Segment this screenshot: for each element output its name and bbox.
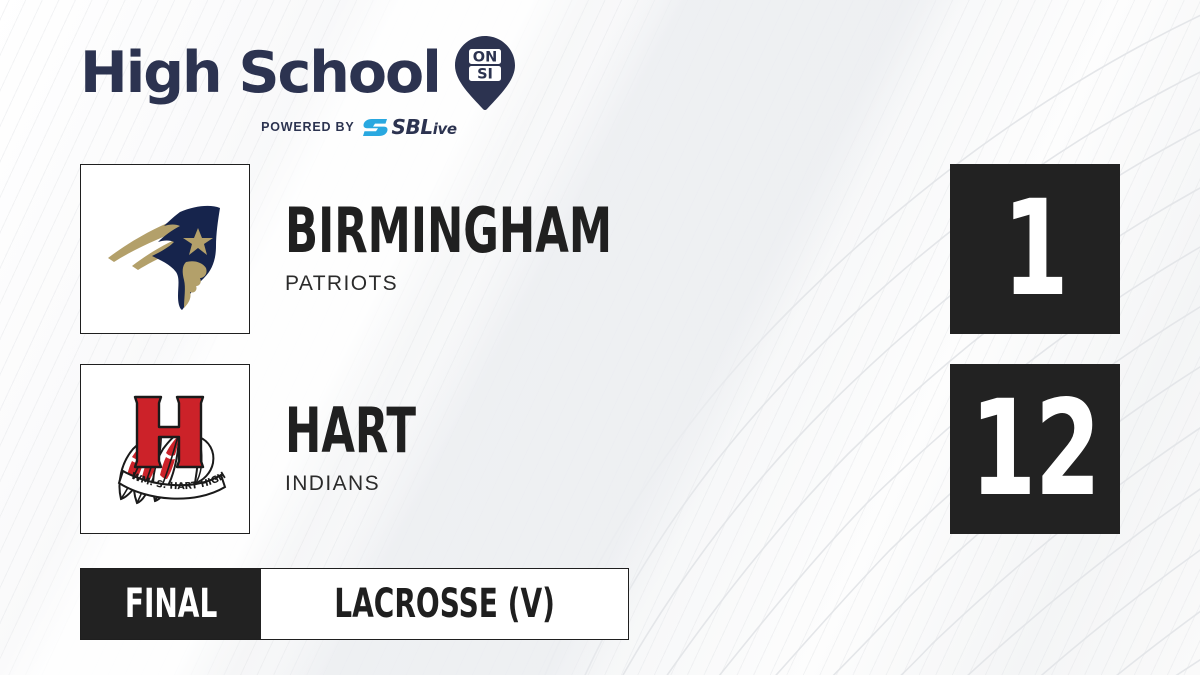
sblive-wordmark: SBLive (392, 117, 457, 137)
site-title: High School (80, 46, 440, 101)
game-status-bar: FINAL LACROSSE (V) (80, 568, 629, 640)
team-name: HART (285, 402, 733, 459)
pin-label-si: SI (477, 66, 493, 82)
team-info-hart: HART INDIANS (285, 364, 925, 534)
team-logo-birmingham (80, 164, 250, 334)
status-sport-label: LACROSSE (V) (334, 584, 555, 624)
scoreboard-card: High School ON SI POWERED BY SBLive (0, 0, 1200, 675)
team-mascot: PATRIOTS (285, 272, 925, 296)
sblive-word-main: SBL (392, 115, 433, 139)
sblive-s-mark (363, 118, 389, 137)
score-box-birmingham: 1 (950, 164, 1120, 334)
score-box-hart: 12 (950, 364, 1120, 534)
pin-label-on: ON (473, 49, 497, 65)
sblive-logo: SBLive (363, 117, 457, 137)
powered-by-label: POWERED BY (261, 120, 354, 134)
sblive-word-tail: ive (433, 120, 457, 138)
score-value: 1 (1003, 183, 1068, 315)
team-logo-hart: WM. S. HART HIGH (80, 364, 250, 534)
team-mascot: INDIANS (285, 472, 925, 496)
status-final-badge: FINAL (81, 569, 261, 639)
status-sport-panel: LACROSSE (V) (261, 569, 628, 639)
powered-by-row: POWERED BY SBLive (80, 117, 516, 137)
team-name: BIRMINGHAM (285, 202, 733, 259)
brand-header: High School ON SI POWERED BY SBLive (80, 36, 516, 137)
brand-title-row: High School ON SI (80, 36, 516, 110)
on-si-pin-icon: ON SI (454, 36, 516, 110)
score-value: 12 (970, 383, 1099, 515)
team-info-birmingham: BIRMINGHAM PATRIOTS (285, 164, 925, 334)
status-final-label: FINAL (125, 584, 217, 624)
